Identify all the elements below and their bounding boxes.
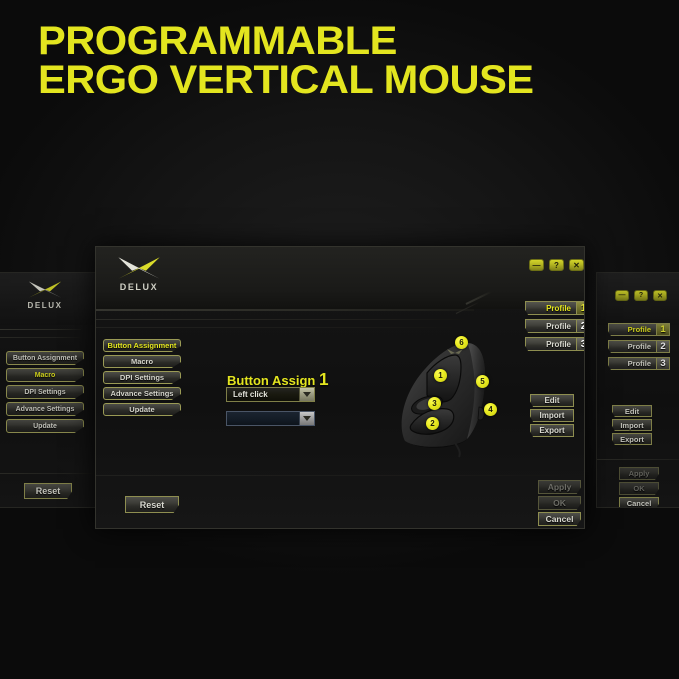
nav-item-label: Advance Settings [16, 406, 75, 413]
right-window-profile-row-0[interactable]: Profile1 [608, 323, 670, 336]
right-window-profile-number-0[interactable]: 1 [657, 323, 670, 336]
right-window-profile-number-1[interactable]: 2 [657, 340, 670, 353]
header-divider-1 [96, 309, 474, 311]
right-window-profile-action-import-button[interactable]: Import [612, 419, 652, 431]
mouse-callout-1[interactable]: 1 [434, 369, 447, 382]
dialog-action-cancel-button[interactable]: Cancel [538, 512, 581, 526]
left-window-nav-item-0[interactable]: Button Assignment [6, 351, 84, 365]
footer-divider [96, 475, 585, 476]
minimize-icon: — [533, 261, 541, 270]
right-window-dialog-action-ok-button: OK [619, 482, 659, 495]
delux-configuration-dialog: DELUX —?✕ Button AssignmentMacroDPI Sett… [95, 246, 585, 529]
background-left-window: DELUX Button AssignmentMacroDPI Settings… [0, 272, 96, 508]
nav-item-1[interactable]: Macro [103, 355, 181, 368]
profile-button-0[interactable]: Profile [525, 301, 577, 315]
left-window-rule-1 [0, 329, 81, 330]
profile-number-1[interactable]: 2 [577, 319, 585, 333]
left-window-reset-button[interactable]: Reset [24, 483, 72, 499]
delux-logo-left: DELUX [23, 279, 67, 313]
delux-x-logo-icon-main [109, 255, 169, 281]
right-window-profile-button-1[interactable]: Profile [608, 340, 657, 353]
left-window-rule-2 [0, 337, 81, 338]
profile-button-2[interactable]: Profile [525, 337, 577, 351]
left-window-nav-item-1[interactable]: Macro [6, 368, 84, 382]
left-window-rule-3 [0, 473, 96, 474]
profile-action-export-button[interactable]: Export [530, 424, 574, 437]
right-window-titlebar-button-2[interactable]: ✕ [653, 290, 667, 301]
dialog-nav-menu: Button AssignmentMacroDPI SettingsAdvanc… [103, 339, 181, 419]
left-window-nav-item-2[interactable]: DPI Settings [6, 385, 84, 399]
delux-wordmark-main: DELUX [109, 282, 169, 292]
background-right-window: —?✕ Profile1Profile2Profile3 EditImportE… [596, 272, 679, 508]
profile-row-0[interactable]: Profile1 [525, 301, 585, 315]
left-window-nav-item-3[interactable]: Advance Settings [6, 402, 84, 416]
nav-item-label: DPI Settings [24, 389, 65, 396]
delux-logo-main: DELUX [109, 255, 169, 297]
nav-item-label: Update [129, 405, 154, 414]
secondary-assignment-dropdown[interactable] [226, 411, 315, 426]
mouse-callout-6[interactable]: 6 [455, 336, 468, 349]
nav-item-label: DPI Settings [120, 373, 164, 382]
right-window-titlebar-button-0[interactable]: — [615, 290, 629, 301]
right-window-profile-action-edit-button[interactable]: Edit [612, 405, 652, 417]
right-window-dialog-action-cancel-button[interactable]: Cancel [619, 497, 659, 508]
profile-row-1[interactable]: Profile2 [525, 319, 585, 333]
minimize-icon: — [619, 292, 626, 299]
ergo-vertical-mouse-illustration [381, 333, 511, 458]
headline-line-1: PROGRAMMABLE [38, 22, 534, 61]
button-assign-title-number: 1 [319, 369, 329, 389]
right-window-profile-button-2[interactable]: Profile [608, 357, 657, 370]
help-button[interactable]: ? [549, 259, 564, 271]
mouse-callout-4[interactable]: 4 [484, 403, 497, 416]
header-divider-2 [96, 319, 464, 320]
left-window-nav: Button AssignmentMacroDPI SettingsAdvanc… [6, 351, 84, 436]
mouse-callout-2[interactable]: 2 [426, 417, 439, 430]
chevron-down-icon-primary[interactable] [299, 388, 314, 401]
profile-action-edit-button[interactable]: Edit [530, 394, 574, 407]
nav-item-label: Macro [131, 357, 153, 366]
page-headline: PROGRAMMABLE ERGO VERTICAL MOUSE [38, 22, 514, 100]
nav-item-label: Macro [35, 372, 56, 379]
right-window-profile-row-1[interactable]: Profile2 [608, 340, 670, 353]
delux-x-logo-icon [23, 279, 67, 300]
button-assign-title-text: Button Assign [227, 373, 315, 388]
nav-item-label: Advance Settings [111, 389, 174, 398]
mouse-callout-5[interactable]: 5 [476, 375, 489, 388]
chevron-down-icon-secondary[interactable] [299, 412, 314, 425]
nav-item-0[interactable]: Button Assignment [103, 339, 181, 352]
secondary-assignment-value [227, 412, 299, 425]
right-window-titlebar-button-1[interactable]: ? [634, 290, 648, 301]
right-window-dialog-action-apply-button: Apply [619, 467, 659, 480]
nav-item-3[interactable]: Advance Settings [103, 387, 181, 400]
left-window-nav-item-4[interactable]: Update [6, 419, 84, 433]
nav-item-label: Button Assignment [108, 341, 177, 350]
profile-row-2[interactable]: Profile3 [525, 337, 585, 351]
nav-item-label: Update [33, 423, 57, 430]
close-button[interactable]: ✕ [569, 259, 584, 271]
nav-item-label: Button Assignment [13, 355, 77, 362]
dialog-action-ok-button: OK [538, 496, 581, 510]
dialog-header-band [96, 247, 585, 309]
question-mark-icon: ? [639, 292, 643, 299]
right-window-profile-action-export-button[interactable]: Export [612, 433, 652, 445]
right-window-profile-row-2[interactable]: Profile3 [608, 357, 670, 370]
delux-wordmark-left: DELUX [23, 301, 67, 310]
question-mark-icon: ? [554, 261, 559, 270]
profile-number-0[interactable]: 1 [577, 301, 585, 315]
minimize-button[interactable]: — [529, 259, 544, 271]
right-window-rule [597, 459, 679, 460]
reset-button[interactable]: Reset [125, 496, 179, 513]
dialog-action-apply-button: Apply [538, 480, 581, 494]
mouse-callout-3[interactable]: 3 [428, 397, 441, 410]
profile-number-2[interactable]: 3 [577, 337, 585, 351]
header-divider-3 [96, 327, 452, 328]
close-x-icon: ✕ [657, 292, 663, 300]
profile-action-import-button[interactable]: Import [530, 409, 574, 422]
nav-item-2[interactable]: DPI Settings [103, 371, 181, 384]
right-window-profile-number-2[interactable]: 3 [657, 357, 670, 370]
profile-button-1[interactable]: Profile [525, 319, 577, 333]
nav-item-4[interactable]: Update [103, 403, 181, 416]
headline-line-2: ERGO VERTICAL MOUSE [38, 61, 534, 100]
right-window-profile-button-0[interactable]: Profile [608, 323, 657, 336]
close-x-icon: ✕ [573, 261, 580, 270]
primary-assignment-value: Left click [227, 388, 299, 401]
primary-assignment-dropdown[interactable]: Left click [226, 387, 315, 402]
